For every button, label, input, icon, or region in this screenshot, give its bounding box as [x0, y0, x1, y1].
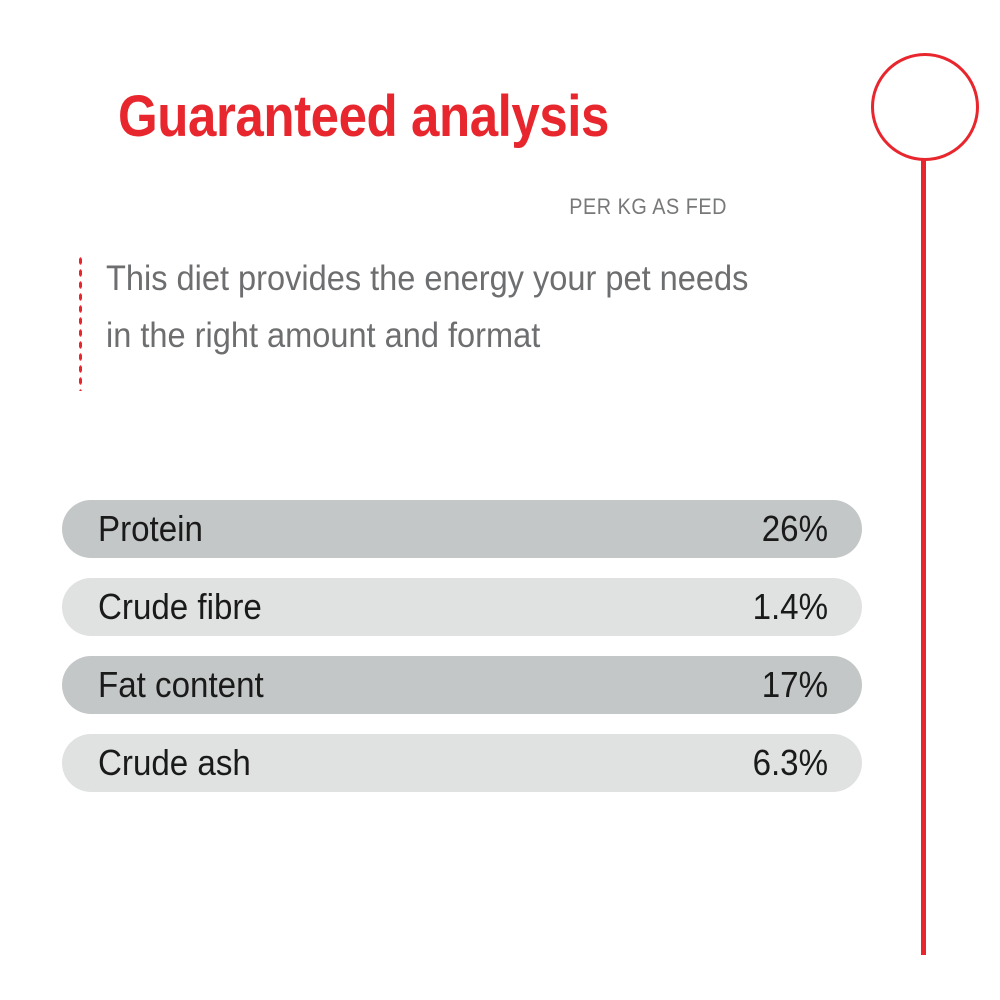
nutrient-label: Fat content: [98, 666, 264, 704]
nutrient-label: Crude fibre: [98, 588, 262, 626]
nutrient-value: 26%: [762, 510, 828, 548]
table-row: Crude ash 6.3%: [62, 734, 862, 792]
table-row: Crude fibre 1.4%: [62, 578, 862, 636]
brand-vertical-rule: [921, 105, 926, 955]
page-subtitle: PER KG AS FED: [73, 194, 727, 220]
nutrient-label: Protein: [98, 510, 203, 548]
brand-badge-circle: [871, 53, 979, 161]
intro-line-2: in the right amount and format: [106, 307, 776, 364]
nutrient-value: 17%: [762, 666, 828, 704]
analysis-table: Protein 26% Crude fibre 1.4% Fat content…: [62, 500, 862, 812]
nutrient-value: 6.3%: [753, 744, 828, 782]
table-row: Fat content 17%: [62, 656, 862, 714]
page-title: Guaranteed analysis: [44, 86, 684, 148]
intro-block: This diet provides the energy your pet n…: [74, 250, 834, 390]
nutrient-value: 1.4%: [753, 588, 828, 626]
nutrient-label: Crude ash: [98, 744, 251, 782]
intro-paragraph: This diet provides the energy your pet n…: [106, 250, 776, 364]
guaranteed-analysis-panel: Guaranteed analysis PER KG AS FED This d…: [0, 0, 1000, 1000]
table-row: Protein 26%: [62, 500, 862, 558]
intro-line-1: This diet provides the energy your pet n…: [106, 250, 776, 307]
dotted-accent-rule: [78, 255, 83, 391]
